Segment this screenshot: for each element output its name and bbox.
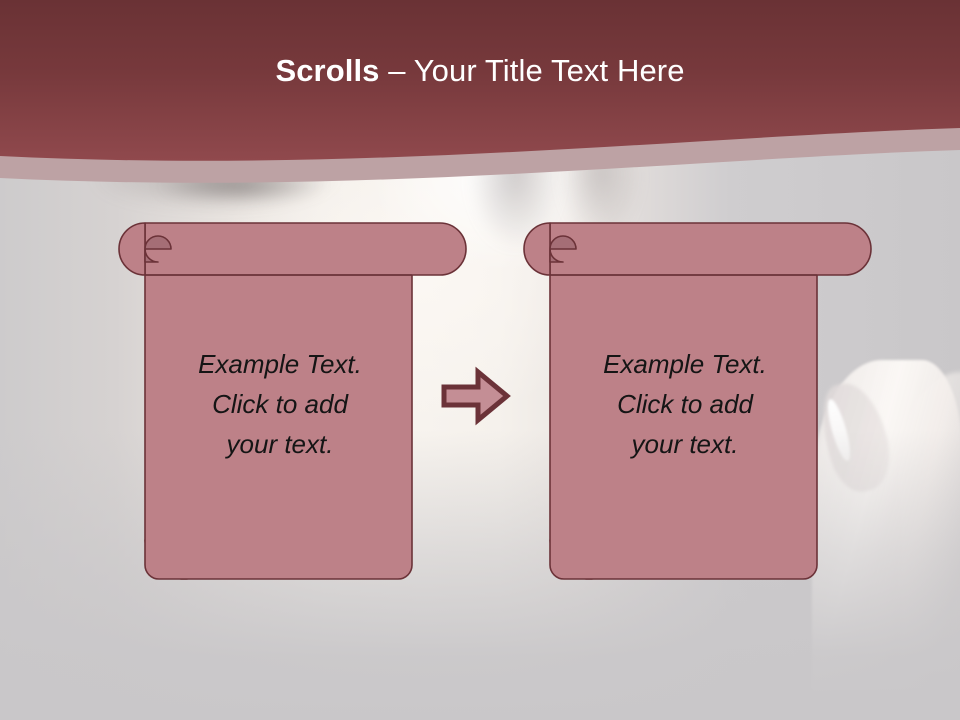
page-title: Scrolls – Your Title Text Here [0, 52, 960, 90]
scroll-left-text[interactable]: Example Text. Click to add your text. [140, 344, 420, 464]
scroll-left-line-2: Click to add [140, 384, 420, 424]
slide-canvas: Scrolls – Your Title Text Here Example T… [0, 0, 960, 720]
header-banner: Scrolls – Your Title Text Here [0, 0, 960, 210]
scroll-top-bar [550, 223, 871, 275]
scroll-left-line-3: your text. [140, 424, 420, 464]
scroll-right-text[interactable]: Example Text. Click to add your text. [545, 344, 825, 464]
scroll-right-line-1: Example Text. [545, 344, 825, 384]
scroll-curl-top-outer [524, 223, 550, 275]
title-rest-part: – Your Title Text Here [380, 53, 685, 88]
scroll-right-line-3: your text. [545, 424, 825, 464]
scroll-right-line-2: Click to add [545, 384, 825, 424]
title-bold-part: Scrolls [275, 53, 379, 88]
scroll-left-line-1: Example Text. [140, 344, 420, 384]
scroll-curl-top-outer [119, 223, 145, 275]
scroll-top-bar [145, 223, 466, 275]
